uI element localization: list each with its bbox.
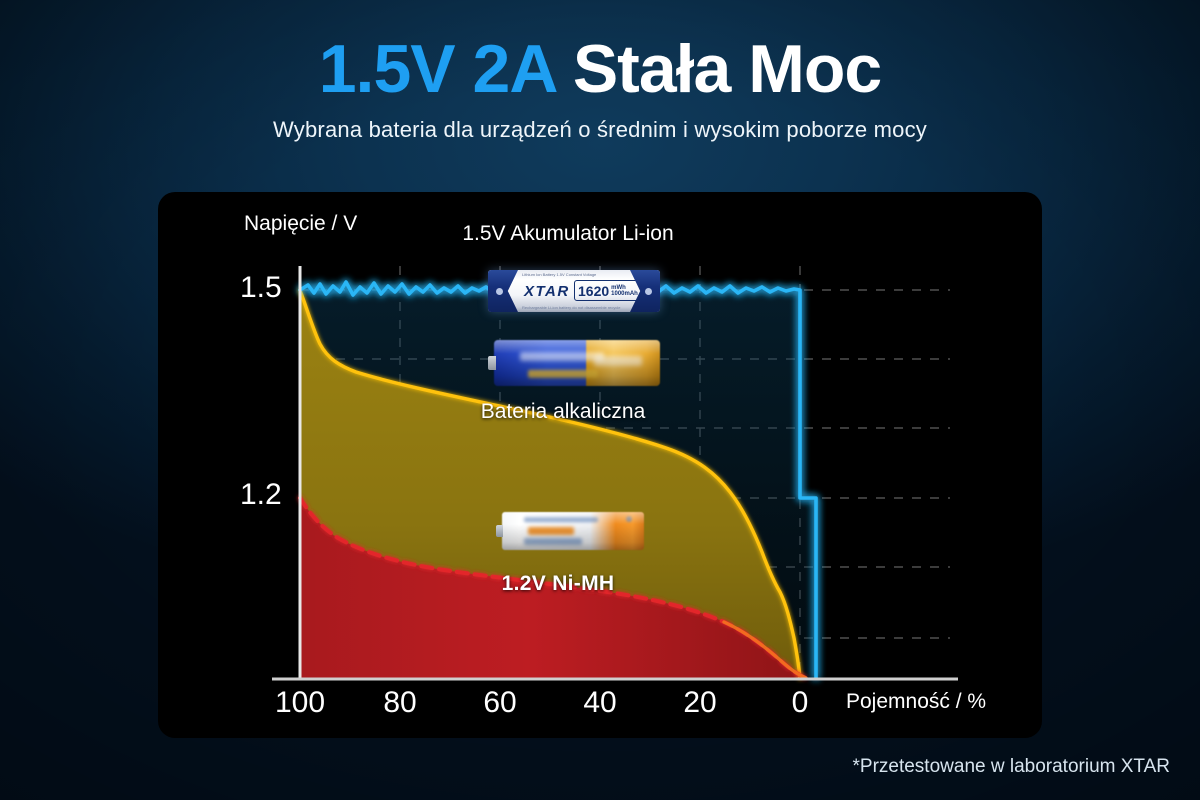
liion-brand-label: XTAR (524, 283, 570, 300)
liion-capacity-value: 1620 (578, 284, 609, 298)
liion-unit-mah: 1000mAh (611, 291, 638, 297)
page-subtitle: Wybrana bateria dla urządzeń o średnim i… (0, 117, 1200, 143)
liion-terminal-left (496, 288, 503, 295)
nimh-sheen (502, 512, 644, 550)
header: 1.5V 2A Stała Moc Wybrana bateria dla ur… (0, 0, 1200, 143)
alkaline-sheen (494, 340, 660, 386)
x-tick-0: 0 (792, 686, 809, 720)
x-axis-title: Pojemność / % (846, 690, 986, 714)
x-tick-60: 60 (483, 686, 516, 720)
title-rest: Stała Moc (573, 31, 881, 107)
x-tick-20: 20 (683, 686, 716, 720)
series-label-nimh: 1.2V Ni-MH (502, 572, 615, 596)
y-axis-title: Napięcie / V (244, 212, 357, 236)
nimh-battery-image (496, 512, 644, 550)
x-tick-100: 100 (275, 686, 325, 720)
liion-terminal-right (645, 288, 652, 295)
title-accent: 1.5V 2A (319, 31, 555, 107)
nimh-terminal (496, 525, 503, 537)
series-label-liion: 1.5V Akumulator Li-ion (462, 222, 673, 246)
liion-bottom-print: Rechargeable Li-ion battery do not disas… (522, 305, 626, 310)
alkaline-battery-body (494, 340, 660, 386)
alkaline-battery-image (488, 340, 660, 386)
liion-battery-body: Lithium Ion Battery 1.5V Constant Voltag… (488, 270, 660, 312)
x-tick-80: 80 (383, 686, 416, 720)
liion-cap-left (488, 270, 518, 312)
liion-top-print: Lithium Ion Battery 1.5V Constant Voltag… (522, 272, 626, 277)
footnote: *Przetestowane w laboratorium XTAR (853, 756, 1171, 778)
alkaline-terminal (488, 356, 496, 370)
series-label-alkaline: Bateria alkaliczna (481, 400, 646, 424)
chart-card: Napięcie / V Pojemność / % 1.5 1.2 100 8… (158, 192, 1042, 738)
liion-capacity-units: mWh 1000mAh (611, 285, 638, 297)
liion-spec-box: 1620 mWh 1000mAh (574, 280, 642, 301)
liion-battery-image: Lithium Ion Battery 1.5V Constant Voltag… (488, 270, 660, 312)
nimh-battery-body (502, 512, 644, 550)
y-tick-1-5: 1.5 (240, 271, 282, 305)
page-title: 1.5V 2A Stała Moc (0, 34, 1200, 105)
y-tick-1-2: 1.2 (240, 478, 282, 512)
x-tick-40: 40 (583, 686, 616, 720)
